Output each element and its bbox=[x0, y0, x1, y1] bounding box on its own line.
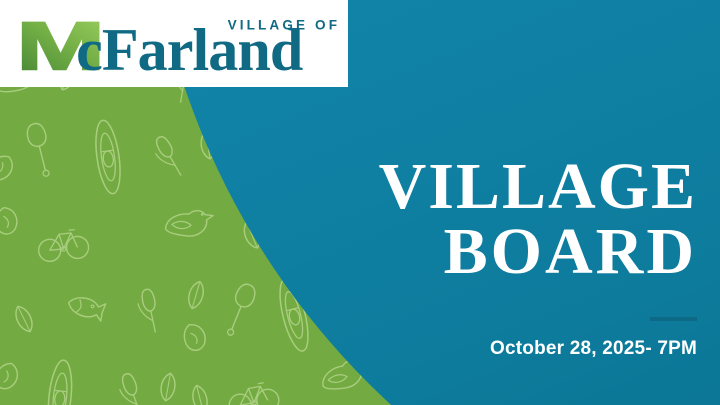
event-date-time: October 28, 2025- 7PM bbox=[490, 338, 697, 360]
headline-divider bbox=[650, 317, 697, 321]
logo-eyebrow: VILLAGE OF bbox=[228, 17, 341, 32]
headline-line-1: VILLAGE bbox=[379, 155, 697, 220]
green-pattern-panel bbox=[0, 87, 420, 405]
headline-block: VILLAGE BOARD bbox=[379, 155, 697, 284]
outdoor-recreation-pattern bbox=[0, 87, 420, 405]
svg-text:VILLAGE OF: VILLAGE OF bbox=[228, 17, 341, 32]
headline-line-2: BOARD bbox=[379, 220, 697, 285]
event-banner: cFarland VILLAGE OF VILLAGE OF McFarland… bbox=[0, 0, 720, 405]
village-of-mcfarland-logo: cFarland VILLAGE OF bbox=[16, 9, 346, 79]
